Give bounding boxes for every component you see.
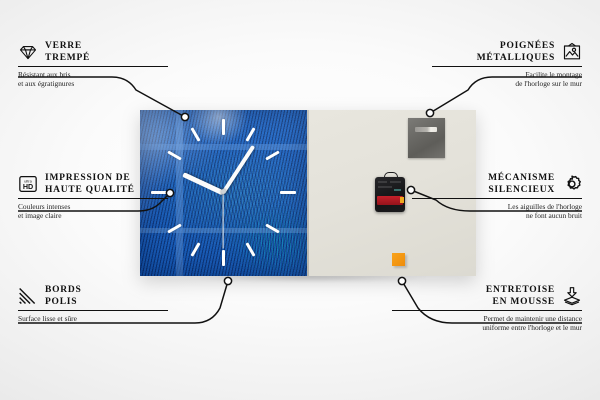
feature-subtitle-line1: Permet de maintenir une distance xyxy=(392,314,582,324)
feature-divider xyxy=(432,66,582,67)
hands-center-cap xyxy=(221,189,226,194)
movement-detail xyxy=(394,189,401,191)
feature-title-line1: MÉCANISME xyxy=(488,172,555,184)
movement-detail xyxy=(378,181,387,183)
feature-title-line2: EN MOUSSE xyxy=(486,296,555,308)
movement-detail xyxy=(390,181,401,183)
feature-divider xyxy=(18,310,168,311)
hour-marker xyxy=(280,191,296,194)
feature-subtitle-line2: et image claire xyxy=(18,211,168,221)
feature-title-line2: TREMPÉ xyxy=(45,52,90,64)
feature-title-line1: IMPRESSION DE xyxy=(45,172,135,184)
hour-marker xyxy=(222,119,225,135)
feature-subtitle-line2: et aux égratignures xyxy=(18,79,168,89)
feature-title-line2: SILENCIEUX xyxy=(488,184,555,196)
feature-poignees-metalliques: POIGNÉES MÉTALLIQUES Facilite le montage… xyxy=(432,40,582,89)
feature-mecanisme-silencieux: MÉCANISME SILENCIEUX Les aiguilles de l'… xyxy=(412,172,582,221)
second-hand xyxy=(222,193,223,249)
feature-title-line2: MÉTALLIQUES xyxy=(477,52,555,64)
feature-subtitle-line1: Couleurs intenses xyxy=(18,202,168,212)
gear-icon xyxy=(562,174,582,194)
feature-verre-trempe: VERRE TREMPÉ Résistant aux bris et aux é… xyxy=(18,40,168,89)
feature-subtitle-line2: ne font aucun bruit xyxy=(412,211,582,221)
ultra-hd-big-label: HD xyxy=(23,183,33,191)
feature-divider xyxy=(18,198,168,199)
feature-subtitle-line2: de l'horloge sur le mur xyxy=(432,79,582,89)
feature-subtitle-line2: uniforme entre l'horloge et le mur xyxy=(392,323,582,333)
diamond-icon xyxy=(18,42,38,62)
feature-subtitle-line1: Les aiguilles de l'horloge xyxy=(412,202,582,212)
foam-spacer-icon xyxy=(562,286,582,306)
feature-title-line1: POIGNÉES xyxy=(477,40,555,52)
feature-subtitle-line1: Surface lisse et sûre xyxy=(18,314,168,324)
feature-impression-hd: ultra HD IMPRESSION DE HAUTE QUALITÉ Cou… xyxy=(18,172,168,221)
hour-marker xyxy=(222,250,225,266)
feature-subtitle-line1: Résistant aux bris xyxy=(18,70,168,80)
battery-terminal xyxy=(400,197,404,203)
feature-title-line1: BORDS xyxy=(45,284,81,296)
feature-divider xyxy=(18,66,168,67)
movement-body xyxy=(375,177,405,212)
polished-edges-icon xyxy=(18,286,38,306)
feature-divider xyxy=(392,310,582,311)
movement-detail xyxy=(378,186,392,188)
picture-frame-hanger-icon xyxy=(562,42,582,62)
feature-entretoise-mousse: ENTRETOISE EN MOUSSE Permet de maintenir… xyxy=(392,284,582,333)
feature-title-line2: HAUTE QUALITÉ xyxy=(45,184,135,196)
panel-edge xyxy=(307,110,309,276)
quartz-movement xyxy=(375,172,405,212)
metal-hanger-plate xyxy=(408,118,445,158)
feature-divider xyxy=(412,198,582,199)
foam-spacer-sample xyxy=(392,253,405,266)
feature-subtitle-line1: Facilite le montage xyxy=(432,70,582,80)
feature-bords-polis: BORDS POLIS Surface lisse et sûre xyxy=(18,284,168,323)
hanger-slot xyxy=(415,127,437,132)
infographic-canvas: VERRE TREMPÉ Résistant aux bris et aux é… xyxy=(0,0,600,400)
feature-title-line1: ENTRETOISE xyxy=(486,284,555,296)
feature-title-line2: POLIS xyxy=(45,296,81,308)
ultra-hd-icon: ultra HD xyxy=(18,174,38,194)
feature-title-line1: VERRE xyxy=(45,40,90,52)
